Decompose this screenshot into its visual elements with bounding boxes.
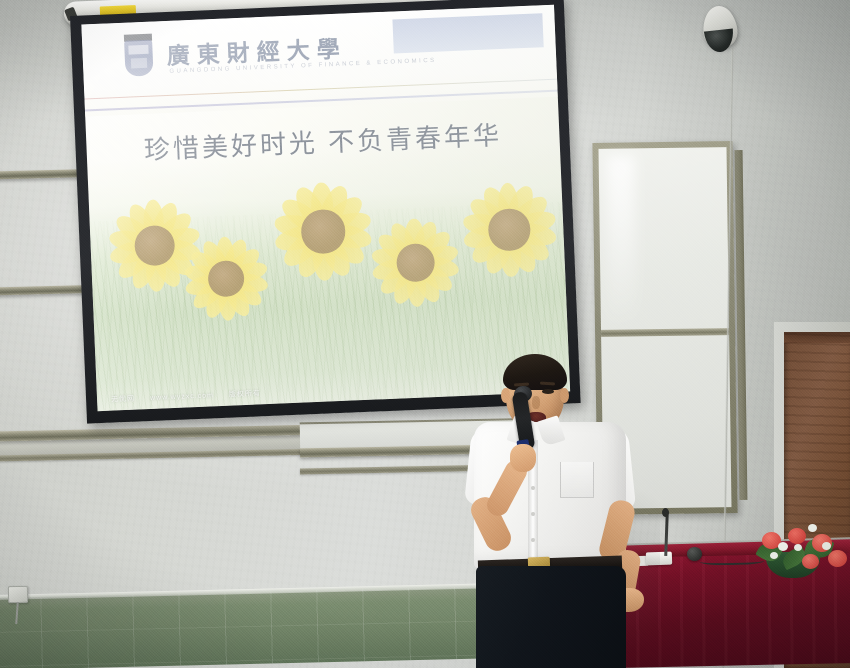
slide-header-band [392,13,543,53]
bouquet-filler-flower [822,542,831,550]
speaker-hair [503,354,567,390]
speaker [448,352,658,668]
university-crest-icon [124,40,153,77]
sunflower-core [301,209,346,254]
speaker-ear-right [560,388,569,403]
bouquet-filler-flower [778,542,788,551]
speaker-trousers [476,566,626,668]
sunflower-5 [460,181,558,279]
lecture-hall-photo: 廣東財經大學 GUANGDONG UNIVERSITY OF FINANCE &… [0,0,850,668]
speaker-ear-left [501,388,510,403]
sunflower-4 [370,217,462,309]
shirt-button [531,538,535,542]
bouquet-rose [828,550,847,567]
bouquet-filler-flower [808,524,817,532]
speaker-hand-left [510,444,536,472]
whiteboard-right-divider [601,328,729,337]
flower-bouquet [752,520,850,582]
footer-right: 版权所有 [229,390,261,398]
footer-middle: www.wyzxc.com [150,392,214,402]
shirt-button [531,486,535,490]
speaker-eye-right [542,389,554,394]
sunflower-2 [182,235,269,322]
slide-header-rule-lower [85,90,558,112]
shirt-button [531,512,535,516]
wall-outlet-box[interactable] [8,586,28,603]
bouquet-filler-flower [794,544,802,551]
gooseneck-mic-head [662,508,669,517]
slide-header-rule-upper [84,79,557,100]
speaker-nose [532,396,540,409]
projected-slide: 廣東財經大學 GUANGDONG UNIVERSITY OF FINANCE &… [81,5,570,411]
bouquet-rose [788,528,806,544]
bouquet-filler-flower [770,552,778,559]
shirt-chest-pocket [560,462,594,498]
sunflower-3 [272,181,374,283]
slide-header: 廣東財經大學 GUANGDONG UNIVERSITY OF FINANCE &… [81,5,557,117]
footer-left: 无忧网 [111,396,135,404]
bouquet-rose [802,554,819,569]
